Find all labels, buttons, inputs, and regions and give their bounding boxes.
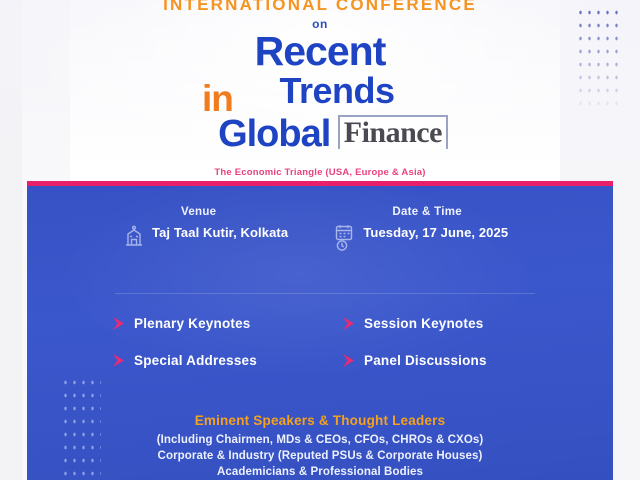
speakers-line-1: (Including Chairmen, MDs & CEOs, CFOs, C… [69, 432, 571, 448]
session-label: Special Addresses [134, 353, 257, 368]
session-label: Session Keynotes [364, 316, 484, 331]
venue-body: Venue Taj Taal Kutir, Kolkata [152, 204, 288, 241]
title-row-global: in Global Finance [0, 114, 640, 162]
speakers-footer: Eminent Speakers & Thought Leaders (Incl… [27, 412, 613, 480]
session-item-special-addresses[interactable]: Special Addresses [113, 353, 343, 368]
poster-header: INTERNATIONAL CONFERENCE on Recent Trend… [0, 0, 640, 182]
speakers-line-2: Corporate & Industry (Reputed PSUs & Cor… [69, 448, 571, 464]
session-types-grid: Plenary Keynotes Session Keynotes Specia… [27, 316, 613, 390]
session-label: Panel Discussions [364, 353, 487, 368]
title-line-trends: Trends [245, 70, 394, 111]
session-label: Plenary Keynotes [134, 316, 251, 331]
datetime-heading: Date & Time [392, 204, 508, 220]
session-item-session-keynotes[interactable]: Session Keynotes [343, 316, 573, 331]
venue-block: Venue Taj Taal Kutir, Kolkata [123, 204, 334, 252]
title-line-recent: Recent [0, 31, 640, 71]
tagline-text: The Economic Triangle (USA, Europe & Asi… [0, 167, 640, 179]
session-row: Plenary Keynotes Session Keynotes [113, 316, 573, 331]
calendar-clock-icon [334, 224, 356, 252]
datetime-block: Date & Time Tuesday, 17 June, 2025 [334, 204, 579, 252]
speakers-line-3: Academicians & Professional Bodies [69, 464, 571, 480]
title-row-trends: Trends [0, 72, 640, 118]
details-panel: Venue Taj Taal Kutir, Kolkata Date & Tim… [27, 181, 613, 480]
title-brand-finance: Finance [338, 115, 448, 149]
venue-heading: Venue [181, 204, 288, 220]
venue-building-icon [123, 224, 145, 248]
arrow-right-icon [343, 353, 356, 368]
arrow-right-icon [113, 353, 126, 368]
title-word-in: in [202, 80, 233, 118]
speakers-title: Eminent Speakers & Thought Leaders [69, 412, 571, 430]
conference-poster: INTERNATIONAL CONFERENCE on Recent Trend… [0, 0, 640, 480]
session-item-plenary-keynotes[interactable]: Plenary Keynotes [113, 316, 343, 331]
arrow-right-icon [113, 316, 126, 331]
venue-value: Taj Taal Kutir, Kolkata [152, 224, 288, 241]
datetime-body: Date & Time Tuesday, 17 June, 2025 [363, 204, 508, 241]
session-row: Special Addresses Panel Discussions [113, 353, 573, 368]
panel-divider [115, 293, 535, 294]
datetime-value: Tuesday, 17 June, 2025 [363, 224, 508, 241]
event-info-row: Venue Taj Taal Kutir, Kolkata Date & Tim… [27, 204, 613, 252]
arrow-right-icon [343, 316, 356, 331]
session-item-panel-discussions[interactable]: Panel Discussions [343, 353, 573, 368]
eyebrow-text: INTERNATIONAL CONFERENCE [0, 0, 640, 14]
title-line-global: Global [192, 113, 330, 155]
